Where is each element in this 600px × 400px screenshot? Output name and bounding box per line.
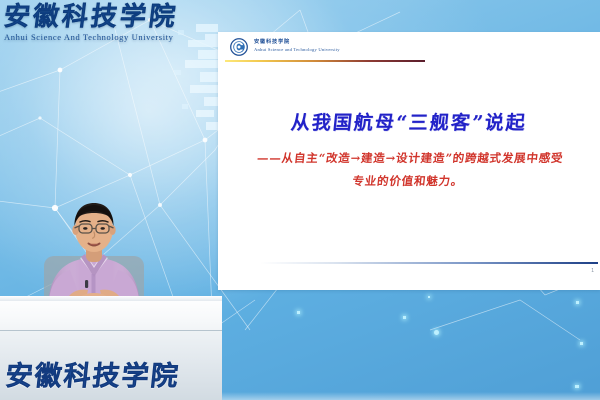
sparkle-dot: [428, 296, 430, 298]
wall-university-logo: 安徽科技学院 Anhui Science And Technology Univ…: [4, 4, 190, 42]
slide-header-cn: 安徽科技学院: [254, 39, 340, 46]
desk-edge: [0, 296, 222, 301]
sparkle-dot: [576, 301, 579, 304]
desk-university-logo: 安徽科技学院: [4, 354, 208, 393]
wall-logo-cn: 安徽科技学院: [2, 4, 191, 30]
sparkle-dot: [403, 316, 406, 319]
slide-header-rule: [225, 60, 425, 62]
university-seal-icon: [230, 38, 248, 56]
presenter: [18, 196, 170, 308]
slide-header-text: 安徽科技学院 Anhui Science and Technology Univ…: [254, 39, 340, 52]
slide-subtitle-line2: 专业的价值和魅力。: [232, 170, 584, 193]
sparkle-dot: [297, 311, 300, 314]
slide-header: 安徽科技学院 Anhui Science and Technology Univ…: [218, 32, 600, 66]
slide-page-mark: 1: [591, 268, 594, 274]
screen: 安徽科技学院 Anhui Science And Technology Univ…: [0, 0, 600, 400]
sparkle-dot: [580, 342, 583, 345]
slide-title: 从我国航母“三舰客”说起: [218, 108, 600, 135]
sparkle-dot: [434, 330, 439, 335]
slide-footer-rule: [260, 262, 598, 264]
presentation-slide[interactable]: 安徽科技学院 Anhui Science and Technology Univ…: [218, 32, 600, 290]
slide-subtitle: ——从自主“改造→建造→设计建造”的跨越式发展中感受 专业的价值和魅力。: [232, 147, 587, 193]
slide-subtitle-line1: ——从自主“改造→建造→设计建造”的跨越式发展中感受: [256, 151, 564, 165]
sparkle-dot: [575, 385, 579, 388]
wall-logo-en: Anhui Science And Technology University: [4, 33, 190, 42]
slide-header-en: Anhui Science and Technology University: [254, 47, 340, 53]
